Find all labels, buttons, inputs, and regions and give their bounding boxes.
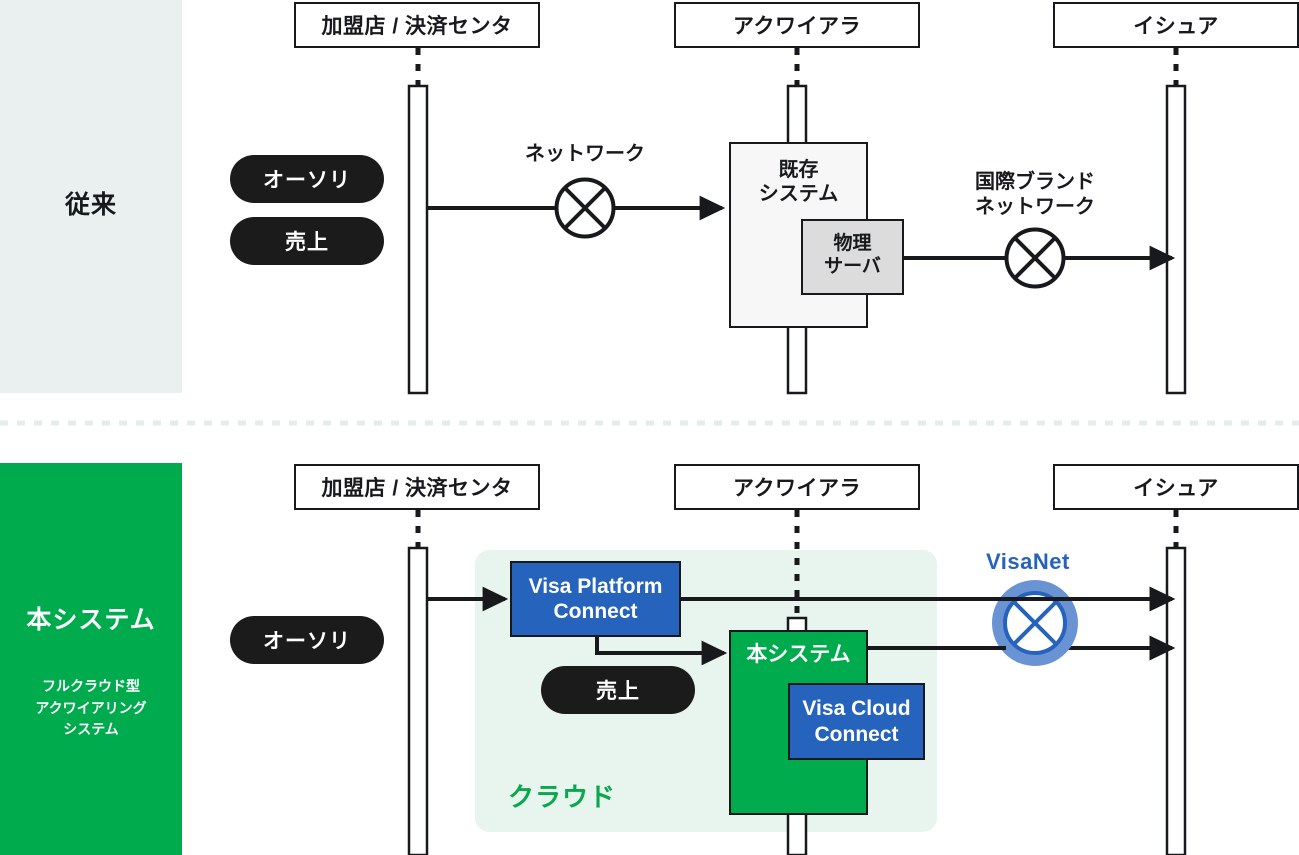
legacy-actor-merchant: 加盟店 / 決済センタ (294, 2, 540, 48)
visanet-label: VisaNet (986, 549, 1070, 575)
legacy-edge-label-ibn-line1: 国際ブランド (935, 170, 1135, 195)
new-actor-acquirer-label: アクワイアラ (733, 472, 861, 502)
new-pill-sales-label: 売上 (596, 675, 640, 705)
node-visa-cloud-connect-line2: Connect (796, 722, 917, 747)
new-actor-merchant: 加盟店 / 決済センタ (294, 464, 540, 510)
legacy-actor-issuer: イシュア (1053, 2, 1299, 48)
diagram-canvas: 従来 本システム フルクラウド型 アクワイアリング システム (0, 0, 1299, 855)
new-actor-merchant-label: 加盟店 / 決済センタ (321, 472, 512, 502)
new-pill-sales: 売上 (541, 666, 695, 714)
legacy-edge-label-network-line1: ネットワーク (485, 142, 685, 167)
node-physical-server: 物理 サーバ (801, 219, 904, 295)
new-actor-acquirer: アクワイアラ (674, 464, 920, 510)
node-visa-cloud-connect: Visa Cloud Connect (788, 683, 925, 760)
node-physical-server-line1: 物理 (803, 233, 902, 256)
legacy-actor-issuer-label: イシュア (1133, 10, 1219, 40)
legacy-pill-authorization-label: オーソリ (263, 164, 351, 194)
legacy-actor-acquirer: アクワイアラ (674, 2, 920, 48)
legacy-pill-authorization: オーソリ (230, 155, 384, 203)
legacy-edge-label-international-brand-network: 国際ブランド ネットワーク (935, 170, 1135, 220)
cloud-region-label: クラウド (508, 777, 616, 814)
new-pill-authorization-label: オーソリ (263, 625, 351, 655)
node-physical-server-line2: サーバ (803, 256, 902, 279)
network-switch-icon (557, 180, 614, 237)
legacy-edge-label-network: ネットワーク (485, 142, 685, 167)
node-existing-system-line1: 既存 (731, 158, 866, 182)
node-visa-platform-connect-line2: Connect (518, 599, 673, 624)
new-pill-authorization: オーソリ (230, 616, 384, 664)
node-visa-platform-connect-line1: Visa Platform (518, 574, 673, 599)
legacy-actor-acquirer-label: アクワイアラ (733, 10, 861, 40)
international-brand-network-switch-icon (1007, 230, 1064, 287)
visanet-switch-icon (992, 580, 1078, 666)
node-this-system-line1: 本システム (731, 642, 866, 667)
legacy-pill-sales: 売上 (230, 217, 384, 265)
node-visa-cloud-connect-line1: Visa Cloud (796, 696, 917, 721)
diagram-vector-layer (0, 0, 1299, 855)
node-visa-platform-connect: Visa Platform Connect (510, 561, 681, 637)
legacy-actor-merchant-label: 加盟店 / 決済センタ (321, 10, 512, 40)
legacy-edge-label-ibn-line2: ネットワーク (935, 195, 1135, 220)
node-existing-system-line2: システム (731, 182, 866, 206)
new-actor-issuer-label: イシュア (1133, 472, 1219, 502)
legacy-lifelines (418, 48, 1176, 87)
legacy-pill-sales-label: 売上 (285, 226, 329, 256)
new-actor-issuer: イシュア (1053, 464, 1299, 510)
